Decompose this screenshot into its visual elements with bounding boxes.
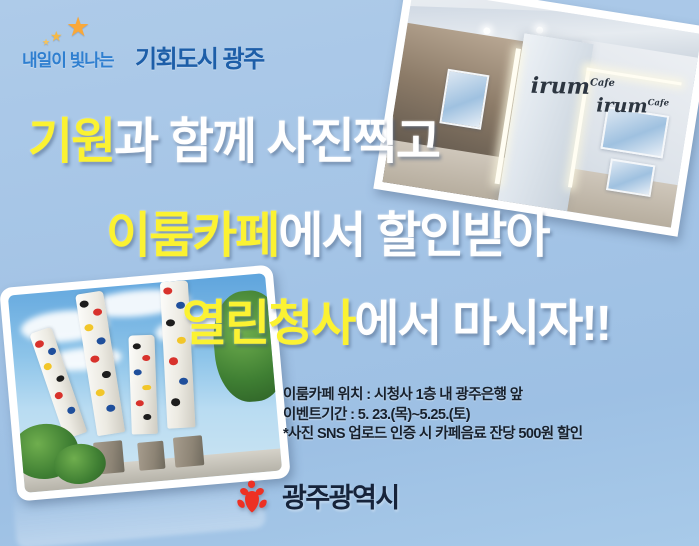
cafe-sign-secondary-sup: Cafe [647, 98, 669, 108]
headline-line-2-plain: 에서 할인받아 [278, 209, 548, 263]
tower-dot [101, 370, 111, 378]
sculpture-tower [29, 326, 87, 438]
polka-dot-sculpture-photo [0, 264, 291, 501]
sculpture-tower [128, 335, 157, 435]
detail-location: 이룸카페 위치 : 시청사 1층 내 광주은행 앞 [283, 386, 582, 406]
tower-dot [96, 388, 106, 396]
tower-dot [163, 287, 172, 295]
star-icon: ★ [66, 14, 90, 41]
tower-dot [175, 301, 184, 309]
sculpture-photo-content [8, 273, 282, 493]
headline-line-2: 이룸카페에서 할인받아 [106, 212, 548, 261]
footer-city-label: 광주광역시 [282, 476, 399, 515]
tower-dot [84, 324, 94, 332]
tower-dot [66, 406, 76, 415]
sculpture-base [137, 441, 165, 471]
sculpture-tower [159, 280, 195, 428]
tower-dot [106, 404, 116, 412]
event-details: 이룸카페 위치 : 시청사 1층 내 광주은행 앞 이벤트기간 : 5. 23.… [283, 386, 582, 445]
headline-line-3-plain: 에서 마시자!! [354, 297, 610, 351]
brand-city-name: 기회도시 광주 [135, 39, 264, 74]
tower-dot [43, 362, 53, 371]
tower-dot [165, 319, 174, 327]
tower-dot [56, 374, 66, 383]
cafe-sign-secondary-text: irum [596, 94, 648, 117]
tower-dot [132, 344, 140, 350]
cafe-interior-photo: irumCafe irumCafe [373, 0, 699, 237]
tower-dot [90, 355, 100, 363]
tower-dot [47, 346, 57, 355]
tower-dot [177, 336, 186, 344]
tower-dot [142, 385, 150, 391]
sculpture-base [173, 436, 204, 468]
wall-artwork [606, 159, 655, 197]
star-cluster: ★ ★ ★ [40, 16, 96, 50]
star-icon: ★ [50, 29, 63, 43]
detail-period: 이벤트기간 : 5. 23.(목)~5.25.(토) [283, 406, 582, 426]
detail-promotion: *사진 SNS 업로드 인증 시 카페음료 잔당 500원 할인 [283, 425, 582, 445]
promotional-poster: ★ ★ ★ 내일이 빛나는 기회도시 광주 irumCafe [0, 0, 699, 546]
gwangju-brand-logo: ★ ★ ★ 내일이 빛나는 기회도시 광주 [22, 18, 282, 72]
tower-dot [171, 398, 180, 406]
tree [210, 288, 282, 405]
tower-dot [54, 391, 64, 400]
tower-dot [168, 357, 177, 365]
tower-dot [80, 300, 90, 308]
cafe-photo-content: irumCafe irumCafe [382, 0, 699, 228]
tower-dot [142, 355, 150, 361]
headline-line-2-accent: 이룸카페 [106, 209, 278, 263]
tower-dot [93, 308, 103, 316]
brand-tagline: 내일이 빛나는 [22, 46, 114, 71]
wall-artwork [439, 69, 489, 130]
tower-dot [143, 415, 151, 421]
gwangju-city-emblem-icon [236, 479, 268, 513]
cafe-sign-secondary: irumCafe [596, 94, 669, 117]
tower-dot [133, 369, 141, 375]
tower-dot [34, 339, 44, 348]
cafe-sign-primary-text: irum [531, 73, 591, 100]
cafe-sign-primary-sup: Cafe [590, 77, 615, 88]
headline-line-1-accent: 기원 [28, 115, 114, 169]
tower-dot [96, 336, 106, 344]
tower-dot [178, 377, 187, 385]
tower-dot [135, 401, 143, 407]
footer: 광주광역시 [236, 476, 399, 515]
